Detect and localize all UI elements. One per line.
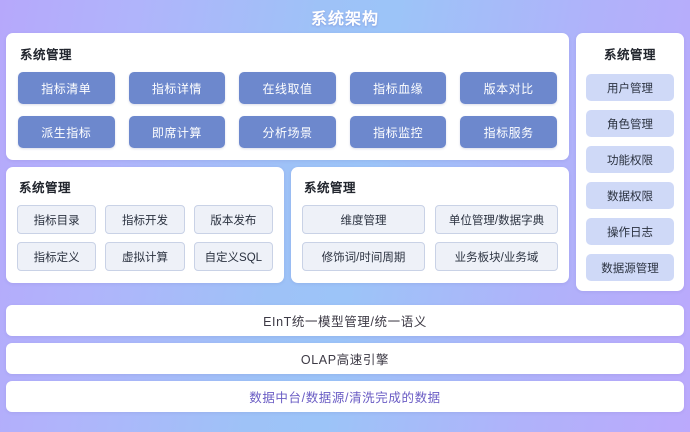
button-adhoc-calculation[interactable]: 即席计算 [129,116,226,148]
architecture-diagram: 系统架构 系统管理 指标清单 指标详情 在线取值 指标血缘 版本对比 派生指标 … [0,0,690,432]
metric-management-button-grid: 指标清单 指标详情 在线取值 指标血缘 版本对比 派生指标 即席计算 分析场景 … [18,72,557,148]
system-management-sidebar: 系统管理 用户管理 角色管理 功能权限 数据权限 操作日志 数据源管理 [576,33,684,291]
dimension-management-panel-title: 系统管理 [304,177,558,196]
button-custom-sql[interactable]: 自定义SQL [194,242,273,271]
sidebar-item-data-permission[interactable]: 数据权限 [586,182,674,209]
metric-development-panel: 系统管理 指标目录 指标开发 版本发布 指标定义 虚拟计算 自定义SQL [6,167,284,283]
button-metric-development[interactable]: 指标开发 [105,205,184,234]
metric-management-panel: 系统管理 指标清单 指标详情 在线取值 指标血缘 版本对比 派生指标 即席计算 … [6,33,569,160]
left-column: 系统管理 指标清单 指标详情 在线取值 指标血缘 版本对比 派生指标 即席计算 … [6,33,569,291]
metric-development-panel-title: 系统管理 [19,177,273,196]
sidebar-item-user-management[interactable]: 用户管理 [586,74,674,101]
layer-unified-model[interactable]: EInT统一模型管理/统一语义 [6,305,684,336]
button-derived-metric[interactable]: 派生指标 [18,116,115,148]
button-online-value[interactable]: 在线取值 [239,72,336,104]
button-dimension-management[interactable]: 维度管理 [302,205,425,234]
button-metric-lineage[interactable]: 指标血缘 [350,72,447,104]
button-unit-dictionary[interactable]: 单位管理/数据字典 [435,205,558,234]
button-metric-definition[interactable]: 指标定义 [17,242,96,271]
sidebar-title: 系统管理 [586,44,674,63]
button-version-compare[interactable]: 版本对比 [460,72,557,104]
metric-management-panel-title: 系统管理 [20,44,557,63]
sidebar-item-function-permission[interactable]: 功能权限 [586,146,674,173]
foundation-layers: EInT统一模型管理/统一语义 OLAP高速引擎 数据中台/数据源/清洗完成的数… [6,305,684,412]
sidebar-item-datasource-management[interactable]: 数据源管理 [586,254,674,281]
sidebar-item-role-management[interactable]: 角色管理 [586,110,674,137]
top-region: 系统管理 指标清单 指标详情 在线取值 指标血缘 版本对比 派生指标 即席计算 … [6,33,684,291]
button-metric-list[interactable]: 指标清单 [18,72,115,104]
middle-region: 系统管理 指标目录 指标开发 版本发布 指标定义 虚拟计算 自定义SQL 系统管… [6,167,569,283]
button-modifier-time-period[interactable]: 修饰词/时间周期 [302,242,425,271]
button-metric-detail[interactable]: 指标详情 [129,72,226,104]
sidebar-list: 用户管理 角色管理 功能权限 数据权限 操作日志 数据源管理 [586,74,674,281]
button-business-domain[interactable]: 业务板块/业务域 [435,242,558,271]
dimension-management-panel: 系统管理 维度管理 单位管理/数据字典 修饰词/时间周期 业务板块/业务域 [291,167,569,283]
layer-data-middle-platform[interactable]: 数据中台/数据源/清洗完成的数据 [6,381,684,412]
dimension-management-button-grid: 维度管理 单位管理/数据字典 修饰词/时间周期 业务板块/业务域 [302,205,558,271]
button-metric-service[interactable]: 指标服务 [460,116,557,148]
button-analysis-scenario[interactable]: 分析场景 [239,116,336,148]
diagram-board: 系统管理 指标清单 指标详情 在线取值 指标血缘 版本对比 派生指标 即席计算 … [6,33,684,426]
button-version-release[interactable]: 版本发布 [194,205,273,234]
page-title: 系统架构 [6,0,684,33]
button-metric-catalog[interactable]: 指标目录 [17,205,96,234]
metric-development-button-grid: 指标目录 指标开发 版本发布 指标定义 虚拟计算 自定义SQL [17,205,273,271]
sidebar-item-operation-log[interactable]: 操作日志 [586,218,674,245]
button-virtual-calculation[interactable]: 虚拟计算 [105,242,184,271]
layer-olap-engine[interactable]: OLAP高速引擎 [6,343,684,374]
button-metric-monitoring[interactable]: 指标监控 [350,116,447,148]
